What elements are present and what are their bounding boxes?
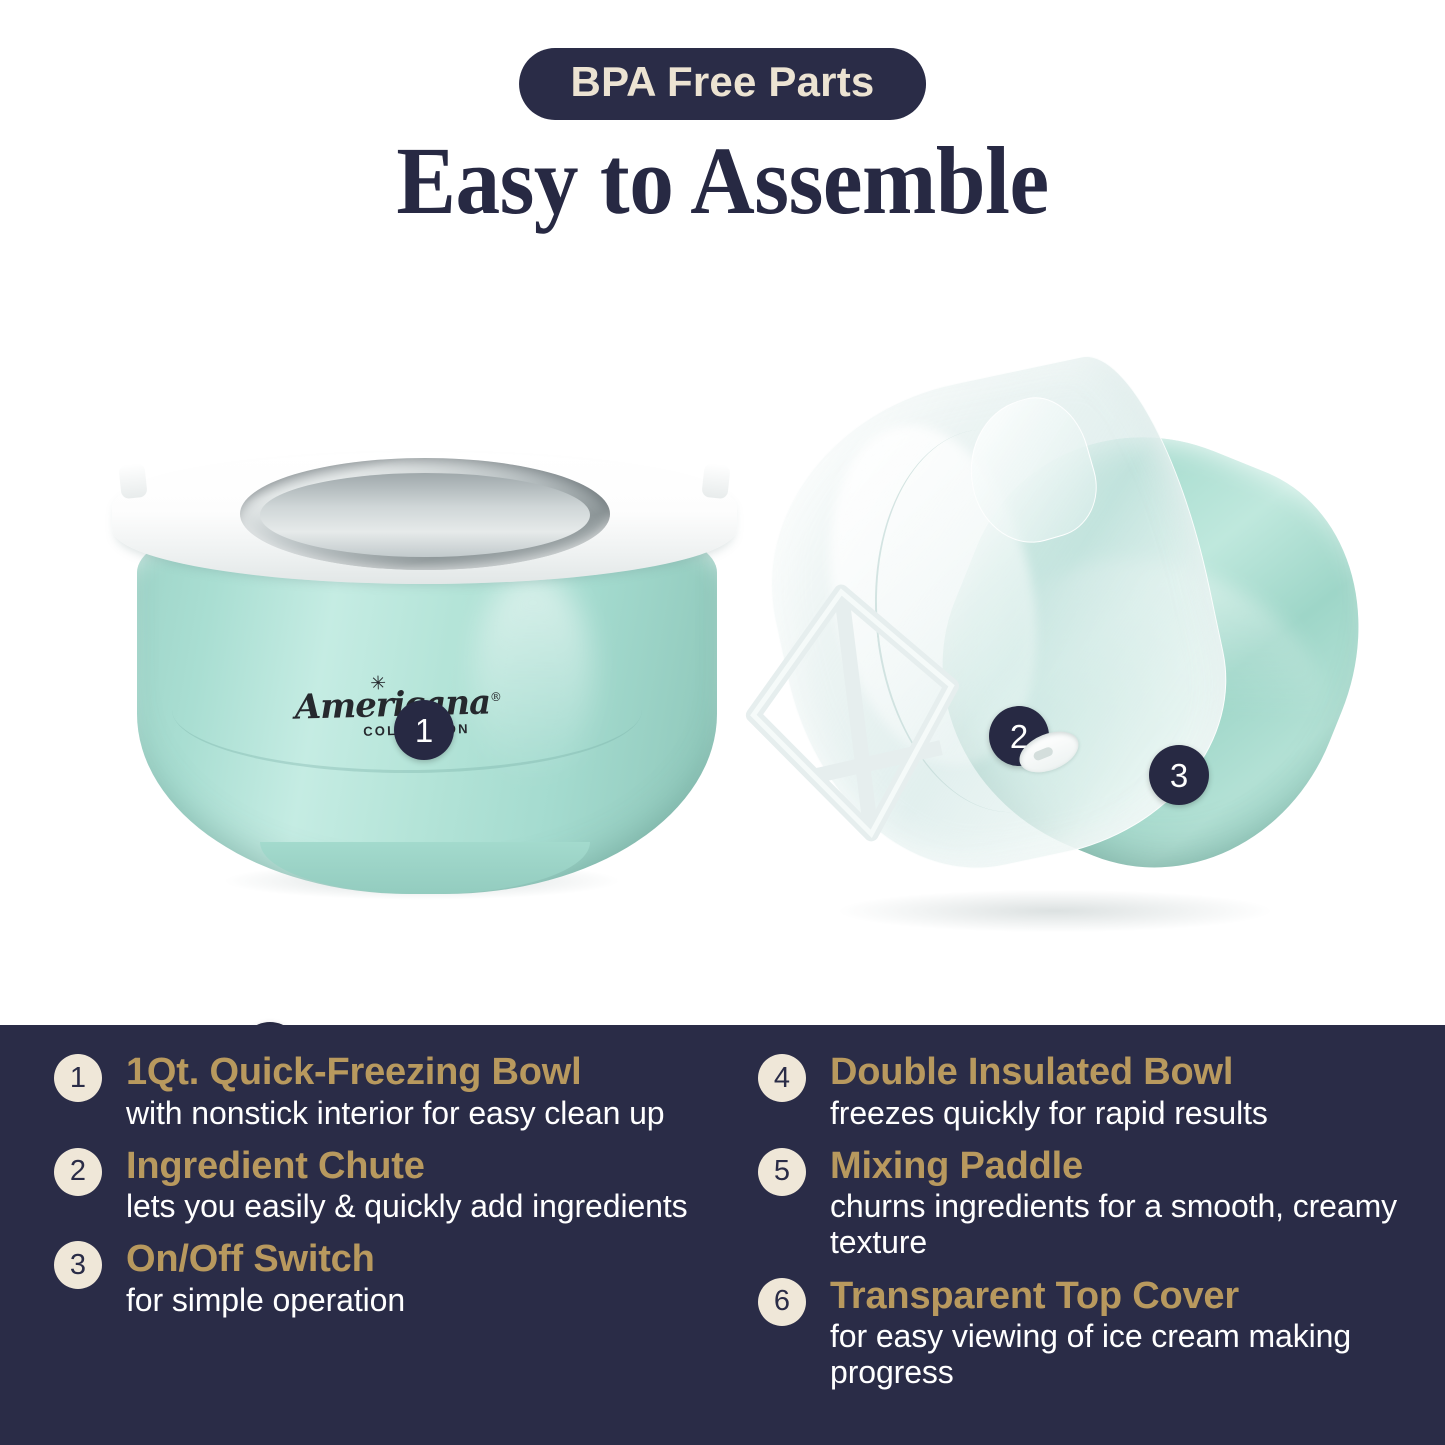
insulated-bowl-illustration: ✳Americana® COLLECTION — [112, 410, 737, 930]
page-title: Easy to Assemble — [51, 128, 1395, 234]
feature-description: churns ingredients for a smooth, creamy … — [830, 1188, 1412, 1260]
lid-housing-paddle-illustration — [720, 370, 1360, 970]
feature-number-badge: 3 — [54, 1241, 102, 1289]
feature-description: with nonstick interior for easy clean up — [126, 1095, 708, 1131]
feature-title: Transparent Top Cover — [830, 1275, 1412, 1318]
feature-description: for simple operation — [126, 1282, 708, 1318]
feature-list-panel: 1 1Qt. Quick-Freezing Bowl with nonstick… — [0, 1025, 1445, 1445]
feature-title: On/Off Switch — [126, 1238, 708, 1281]
bowl-metal-interior — [240, 458, 610, 570]
feature-number-badge: 1 — [54, 1054, 102, 1102]
feature-item: 3 On/Off Switch for simple operation — [48, 1238, 708, 1318]
registered-trademark-icon: ® — [490, 690, 501, 704]
feature-title: 1Qt. Quick-Freezing Bowl — [126, 1051, 708, 1094]
hotspot-marker-1[interactable]: 1 — [394, 700, 454, 760]
feature-item: 2 Ingredient Chute lets you easily & qui… — [48, 1145, 708, 1225]
feature-description: freezes quickly for rapid results — [830, 1095, 1412, 1131]
feature-number-badge: 5 — [758, 1148, 806, 1196]
feature-item: 6 Transparent Top Cover for easy viewing… — [752, 1275, 1412, 1391]
product-image-area: ✳Americana® COLLECTION — [0, 260, 1445, 1025]
header: BPA Free Parts Easy to Assemble — [0, 0, 1445, 260]
bowl-interior-inner — [260, 473, 590, 557]
cluster-drop-shadow — [840, 890, 1270, 932]
starburst-icon: ✳ — [370, 674, 385, 693]
bpa-free-badge: BPA Free Parts — [519, 48, 927, 120]
infographic-page: BPA Free Parts Easy to Assemble ✳America… — [0, 0, 1445, 1445]
feature-item: 1 1Qt. Quick-Freezing Bowl with nonstick… — [48, 1051, 708, 1131]
feature-number-badge: 2 — [54, 1148, 102, 1196]
feature-number-badge: 4 — [758, 1054, 806, 1102]
feature-description: for easy viewing of ice cream making pro… — [830, 1318, 1412, 1390]
brand-name: Americana — [294, 683, 490, 728]
feature-number-badge: 6 — [758, 1278, 806, 1326]
bowl-tab-left — [118, 463, 147, 500]
feature-title: Double Insulated Bowl — [830, 1051, 1412, 1094]
feature-item: 4 Double Insulated Bowl freezes quickly … — [752, 1051, 1412, 1131]
feature-column-right: 4 Double Insulated Bowl freezes quickly … — [752, 1051, 1412, 1404]
feature-item: 5 Mixing Paddle churns ingredients for a… — [752, 1145, 1412, 1261]
feature-column-left: 1 1Qt. Quick-Freezing Bowl with nonstick… — [48, 1051, 708, 1332]
feature-description: lets you easily & quickly add ingredient… — [126, 1188, 708, 1224]
feature-title: Ingredient Chute — [126, 1145, 708, 1188]
hotspot-marker-3[interactable]: 3 — [1149, 745, 1209, 805]
feature-title: Mixing Paddle — [830, 1145, 1412, 1188]
